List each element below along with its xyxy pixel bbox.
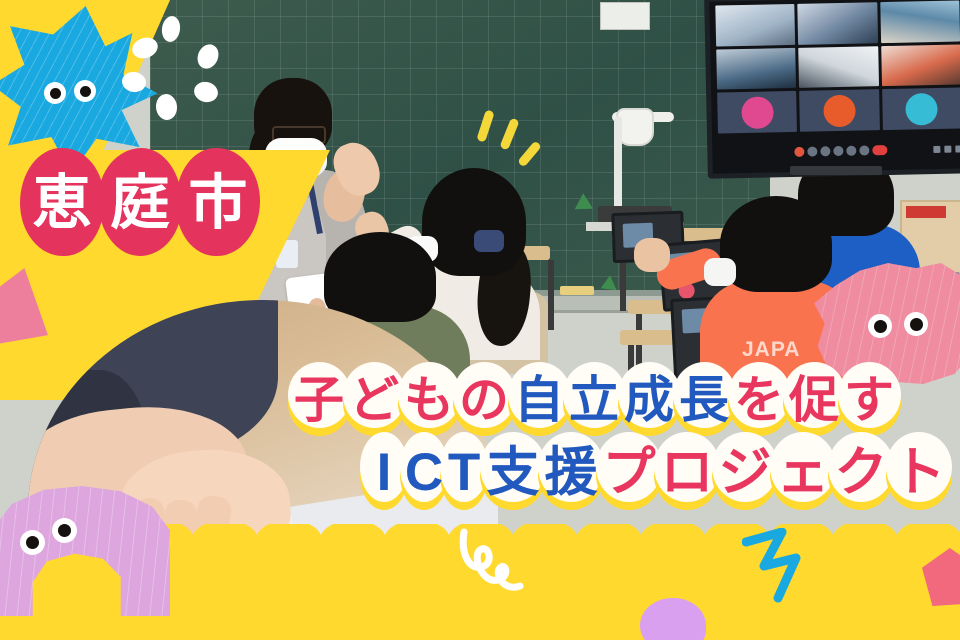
- chalk-piece: [560, 286, 594, 295]
- headline-char: ク: [828, 432, 894, 512]
- display-stand: [790, 166, 882, 175]
- headline-char-glyph: 援: [545, 446, 598, 499]
- headline-char: を: [728, 362, 791, 438]
- participants-icon[interactable]: [820, 146, 830, 156]
- badge-char: 恵: [32, 173, 91, 232]
- headline-char: T: [442, 432, 486, 512]
- headline-char-glyph: 子: [294, 375, 344, 425]
- headline-char: ト: [886, 432, 952, 512]
- promo-banner: JAPA: [0, 0, 960, 640]
- call-control-bar[interactable]: [712, 140, 960, 161]
- video-tile: [799, 46, 879, 88]
- video-tile: [798, 2, 878, 44]
- headline-char-glyph: ェ: [777, 446, 830, 499]
- sparkle-dot-icon: [192, 79, 220, 104]
- cyan-zigzag-icon: [742, 528, 816, 606]
- settings-icon: [933, 146, 940, 153]
- wall-sign: [600, 2, 650, 30]
- video-conference-display: [704, 0, 960, 179]
- headline-char: ェ: [770, 432, 836, 512]
- municipality-badge: 恵 庭 市: [18, 146, 280, 258]
- face-mask: [704, 258, 736, 286]
- headline-char-glyph: す: [844, 375, 894, 425]
- headline-char: ロ: [654, 432, 720, 512]
- purple-arch-character: [0, 486, 170, 616]
- headline-char: 立: [563, 362, 626, 438]
- share-icon[interactable]: [846, 146, 856, 156]
- headline-char: の: [453, 362, 516, 438]
- headline-char: も: [398, 362, 461, 438]
- video-tile: [716, 48, 796, 90]
- badge-char: 庭: [110, 173, 169, 232]
- sparkle-dot-icon: [160, 15, 181, 43]
- headline-char-glyph: T: [448, 446, 480, 499]
- headline-char-glyph: 支: [487, 446, 540, 499]
- sparkle-dot-icon: [130, 34, 161, 61]
- headline-line-1: 子どもの自立成長を促す: [236, 362, 952, 438]
- headline-char-glyph: ク: [835, 446, 888, 499]
- sparkle-dot-icon: [155, 93, 179, 121]
- sparkle-dot-icon: [120, 70, 147, 94]
- badge-blob: 市: [174, 146, 262, 258]
- headline-char-glyph: I: [377, 446, 392, 499]
- eye-icon: [868, 314, 892, 338]
- hangup-icon[interactable]: [872, 145, 887, 155]
- headline-char: プ: [596, 432, 662, 512]
- mic-icon[interactable]: [794, 147, 804, 157]
- headline-char: 援: [538, 432, 604, 512]
- headline-char: 自: [508, 362, 571, 438]
- display-status-icons: [933, 145, 960, 153]
- headline-char-glyph: 立: [569, 375, 619, 425]
- signal-icon: [944, 146, 951, 153]
- headline-char: C: [402, 432, 446, 512]
- badge-blob: 恵: [18, 146, 106, 258]
- headline-char-glyph: ロ: [661, 446, 714, 499]
- eye-icon: [904, 312, 928, 336]
- headline-line-2: ICT支援プロジェクト: [236, 432, 952, 512]
- shirt-text: JAPA: [742, 338, 800, 362]
- sparkle-dot-icon: [194, 41, 222, 72]
- headline-char-glyph: ジ: [719, 446, 772, 499]
- video-tile: [715, 4, 795, 46]
- headline-char: 子: [288, 362, 351, 438]
- headline-char: 促: [783, 362, 846, 438]
- headline-char: す: [838, 362, 901, 438]
- avatar-tile: [799, 89, 879, 131]
- badge-char: 市: [188, 173, 247, 232]
- headline-char-glyph: ト: [893, 446, 946, 499]
- headline-char: ど: [343, 362, 406, 438]
- eye-icon: [44, 82, 66, 104]
- white-sparkle-dots: [118, 16, 238, 124]
- white-squiggle-icon: [456, 528, 534, 594]
- window-icon: [955, 145, 960, 152]
- headline-char-glyph: を: [734, 375, 784, 425]
- avatar-tile: [882, 88, 960, 130]
- headline-char: ジ: [712, 432, 778, 512]
- avatar-tile: [717, 91, 797, 133]
- video-tile: [881, 44, 960, 86]
- eye-icon: [74, 80, 96, 102]
- headline-char-glyph: プ: [603, 446, 656, 499]
- headline-char: 長: [673, 362, 736, 438]
- headline-char-glyph: C: [405, 446, 443, 499]
- video-tile: [880, 0, 960, 42]
- headline-char-glyph: ど: [349, 375, 399, 425]
- chat-icon[interactable]: [833, 146, 843, 156]
- video-tile-grid: [715, 0, 960, 133]
- camera-icon[interactable]: [807, 146, 817, 156]
- headline-char: 成: [618, 362, 681, 438]
- eye-icon: [20, 530, 45, 555]
- headline-char-glyph: の: [459, 375, 509, 425]
- more-icon[interactable]: [859, 145, 869, 155]
- headline-char-glyph: 自: [514, 375, 564, 425]
- headline-char-glyph: も: [404, 375, 454, 425]
- eye-icon: [52, 518, 77, 543]
- headline: 子どもの自立成長を促す ICT支援プロジェクト: [236, 362, 952, 506]
- headline-char: 支: [480, 432, 546, 512]
- hair-tie: [474, 230, 504, 252]
- headline-char-glyph: 促: [789, 375, 839, 425]
- headline-char-glyph: 成: [624, 375, 674, 425]
- badge-blob: 庭: [96, 146, 184, 258]
- headline-char-glyph: 長: [679, 375, 729, 425]
